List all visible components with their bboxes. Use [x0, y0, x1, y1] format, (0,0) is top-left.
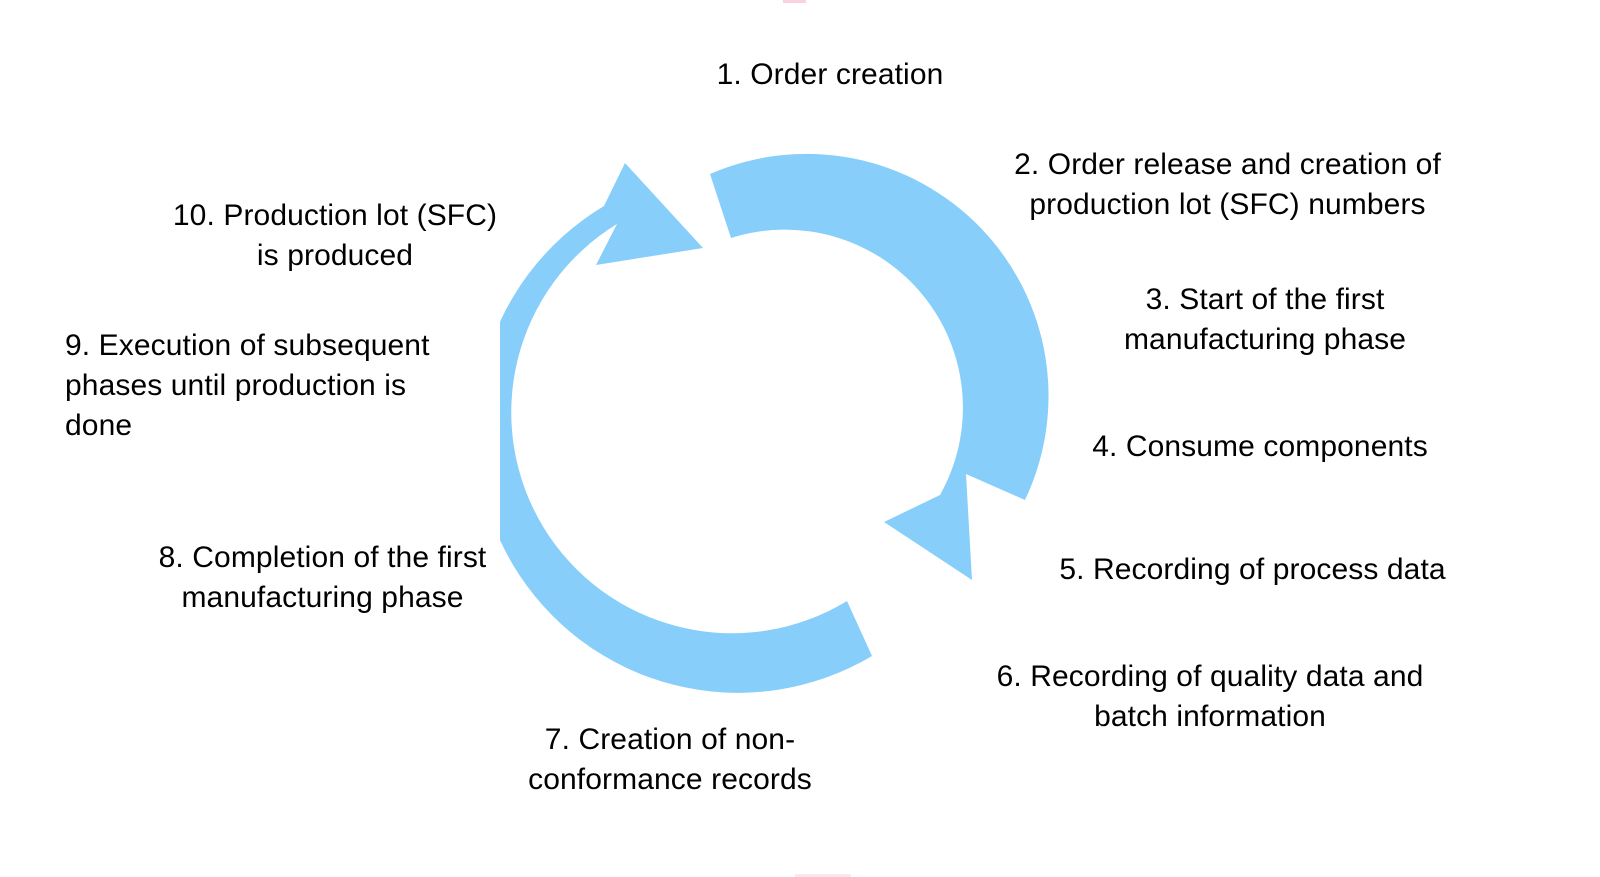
- cycle-step-9-label: 9. Execution of subsequent phases until …: [65, 326, 495, 446]
- cycle-step-6-label: 6. Recording of quality data and batch i…: [960, 657, 1460, 737]
- cycle-step-10-label: 10. Production lot (SFC) is produced: [140, 196, 530, 276]
- cycle-step-5-label: 5. Recording of process data: [1025, 550, 1480, 590]
- cycle-step-1-label: 1. Order creation: [610, 55, 1050, 95]
- diagram-canvas: 1. Order creation 2. Order release and c…: [0, 0, 1600, 877]
- cycle-step-3-label: 3. Start of the first manufacturing phas…: [1060, 280, 1470, 360]
- arc-segment-lower-left: [500, 163, 872, 693]
- cycle-step-2-label: 2. Order release and creation of product…: [985, 145, 1470, 225]
- top-edge-tick-mark: [783, 0, 806, 3]
- circular-arrow-shapes: [500, 154, 1049, 693]
- cycle-step-4-label: 4. Consume components: [1050, 427, 1470, 467]
- cycle-step-7-label: 7. Creation of non- conformance records: [480, 720, 860, 800]
- cycle-step-8-label: 8. Completion of the first manufacturing…: [125, 538, 520, 618]
